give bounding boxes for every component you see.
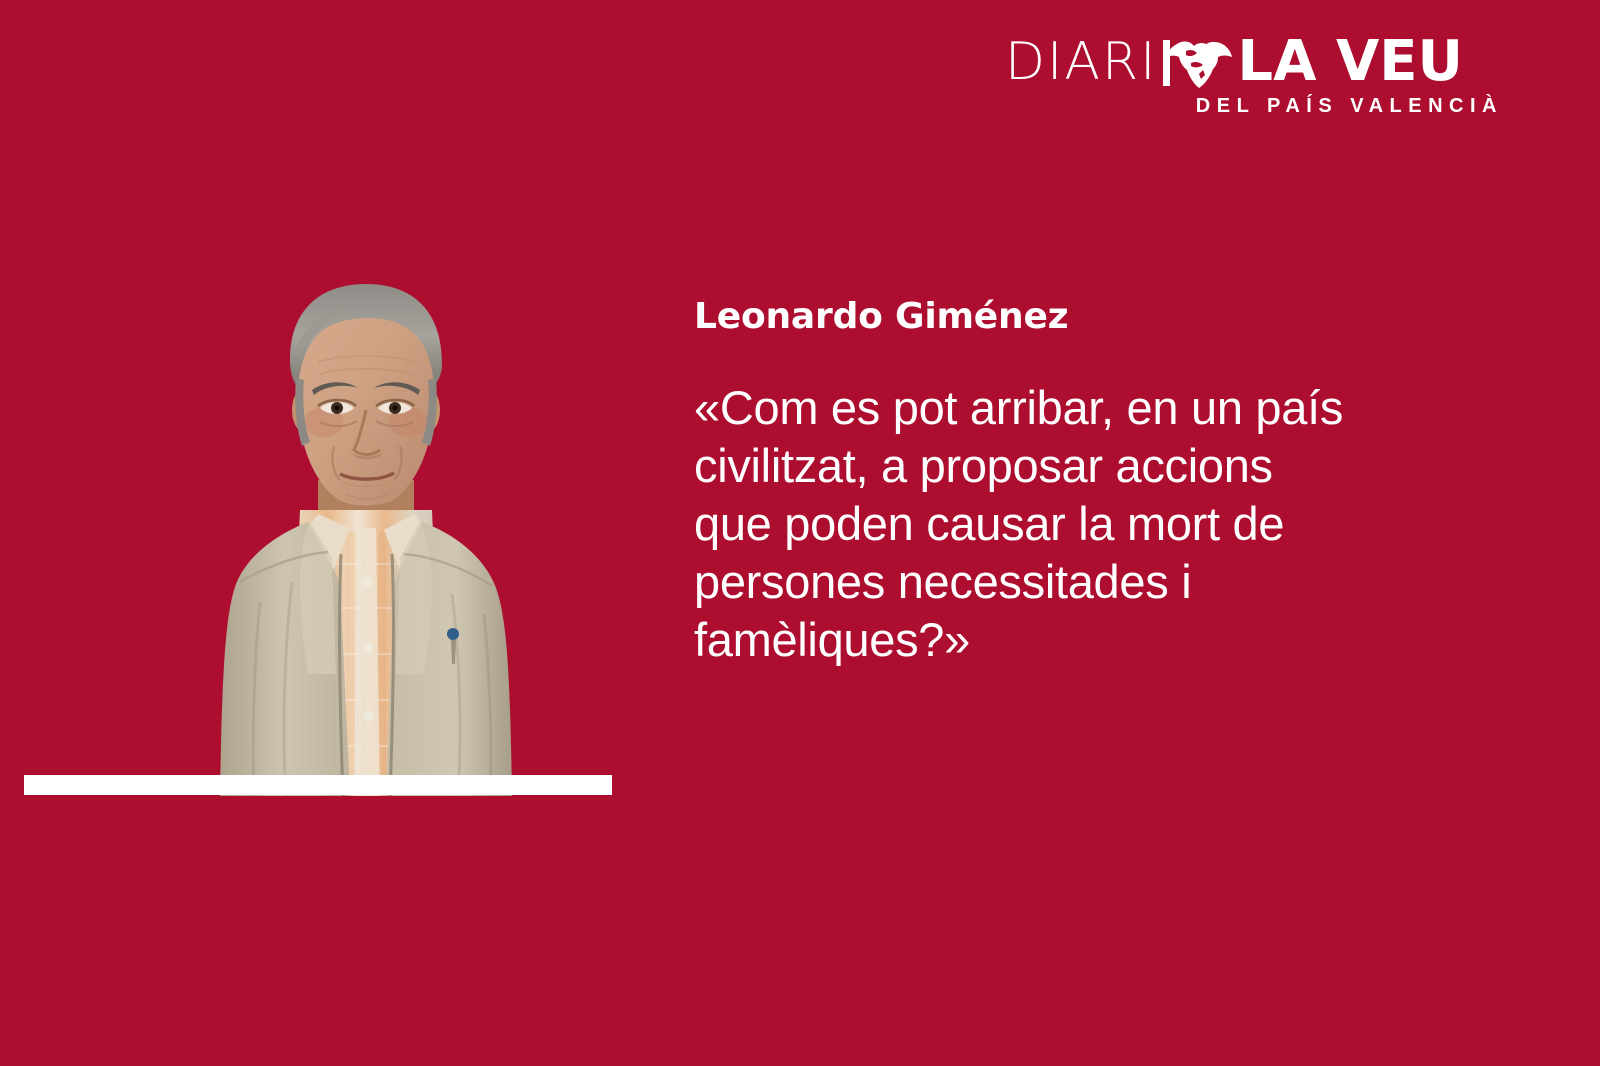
logo-tagline-row: DEL PAÍS VALENCIÀ bbox=[1005, 95, 1505, 118]
quote-card: DIARI LA VEU DEL PAÍS VALENCIÀ bbox=[0, 0, 1600, 1066]
logo-text-laveu: LA VEU bbox=[1237, 34, 1463, 90]
author-name: Leonardo Giménez bbox=[694, 296, 1494, 337]
white-underline-bar bbox=[24, 775, 612, 795]
logo-wordmark-row: DIARI LA VEU bbox=[1005, 33, 1505, 91]
quote-line: civilitzat, a proposar accions bbox=[694, 437, 1484, 495]
portrait-photo bbox=[200, 282, 532, 796]
logo-tagline: DEL PAÍS VALENCIÀ bbox=[1196, 95, 1503, 117]
quote-body: «Com es pot arribar, en un país civilitz… bbox=[694, 379, 1484, 668]
logo-text-diari: DIARI bbox=[1005, 36, 1157, 88]
site-logo[interactable]: DIARI LA VEU DEL PAÍS VALENCIÀ bbox=[1005, 33, 1505, 125]
quote-line: «Com es pot arribar, en un país bbox=[694, 379, 1484, 437]
quote-line: persones necessitades i bbox=[694, 553, 1484, 611]
quote-line: que poden causar la mort de bbox=[694, 495, 1484, 553]
bat-icon bbox=[1161, 36, 1235, 90]
quote-line: famèliques?» bbox=[694, 611, 1484, 669]
quote-text-column: Leonardo Giménez «Com es pot arribar, en… bbox=[694, 296, 1494, 668]
